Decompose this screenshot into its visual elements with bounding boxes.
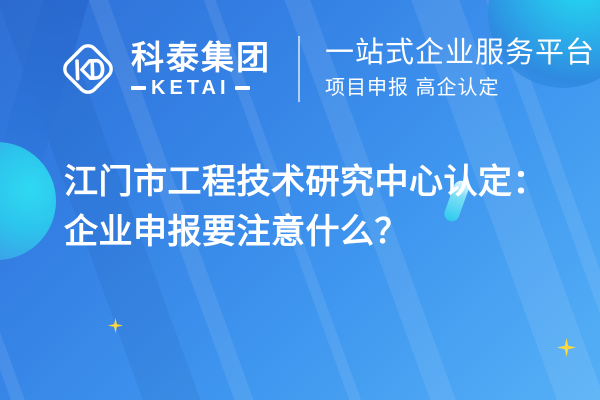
dash-right-icon [235,86,250,90]
company-name-en: KETAI [151,78,230,98]
cyan-circle-icon [0,142,56,260]
logo-wordmark: 科泰集团 KETAI [131,40,271,99]
ketai-diamond-kd-logo-icon [57,38,119,100]
slogan-sub-text: 项目申报 高企认定 [325,75,595,102]
slogan-block: 一站式企业服务平台 项目申报 高企认定 [325,36,595,101]
banner-header: 科泰集团 KETAI 一站式企业服务平台 项目申报 高企认定 [0,0,600,138]
page-title: 江门市工程技术研究中心认定：企业申报要注意什么？ [64,157,564,258]
company-name-en-row: KETAI [131,78,271,98]
gold-sparkle-star-icon [108,318,123,333]
dash-left-icon [131,86,146,90]
promo-banner: 科泰集团 KETAI 一站式企业服务平台 项目申报 高企认定 江门市工程技术研究… [0,0,600,400]
company-name-cn: 科泰集团 [131,40,271,76]
gold-sparkle-star-icon [557,338,576,357]
header-divider [298,36,300,102]
slogan-main-text: 一站式企业服务平台 [325,36,595,70]
brand-lockup: 科泰集团 KETAI [57,38,271,100]
headline-area: 江门市工程技术研究中心认定：企业申报要注意什么？ [64,157,564,258]
